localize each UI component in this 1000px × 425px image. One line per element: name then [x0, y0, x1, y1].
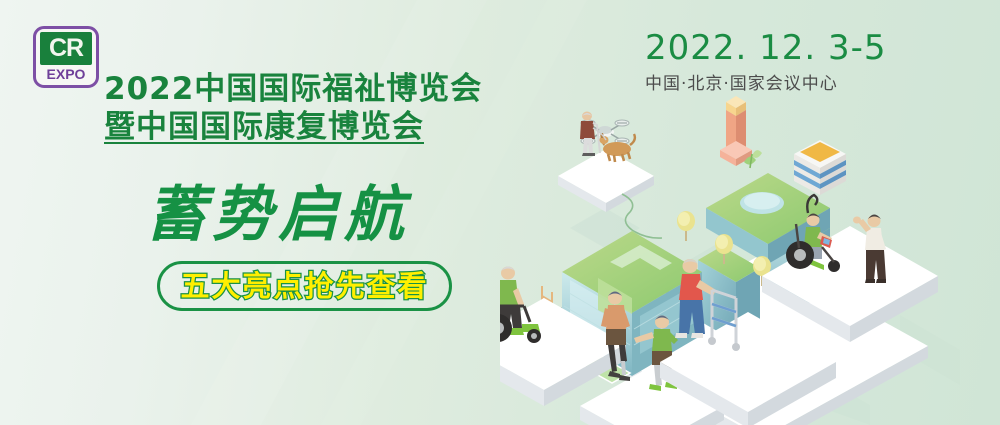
event-date: 2022. 12. 3-5 [645, 28, 915, 68]
headline-line-1: 2022中国国际福祉博览会 [104, 70, 534, 108]
headline-block: 2022中国国际福祉博览会 暨中国国际康复博览会 [104, 70, 534, 146]
highlights-cta-button[interactable]: 五大亮点抢先查看 [157, 261, 452, 311]
isometric-illustration [500, 90, 1000, 425]
logo-mark-box: CR [40, 32, 92, 65]
logo-mark-text: CR [49, 36, 83, 61]
logo-sub-text: EXPO [47, 66, 86, 83]
slogan-text: 蓄势启航 [146, 182, 410, 248]
platform-guide-dog [558, 149, 654, 212]
disc-stack-blue-icon [794, 140, 846, 195]
headline-line-2: 暨中国国际康复博览会 [104, 108, 424, 146]
event-info-block: 2022. 12. 3-5 中国·北京·国家会议中心 [645, 28, 915, 96]
highlights-cta-label: 五大亮点抢先查看 [180, 270, 428, 302]
pencil-tower-icon [720, 96, 752, 166]
expo-banner: CR EXPO 2022中国国际福祉博览会 暨中国国际康复博览会 蓄势启航 五大… [0, 0, 1000, 425]
cr-expo-logo[interactable]: CR EXPO [33, 26, 99, 88]
